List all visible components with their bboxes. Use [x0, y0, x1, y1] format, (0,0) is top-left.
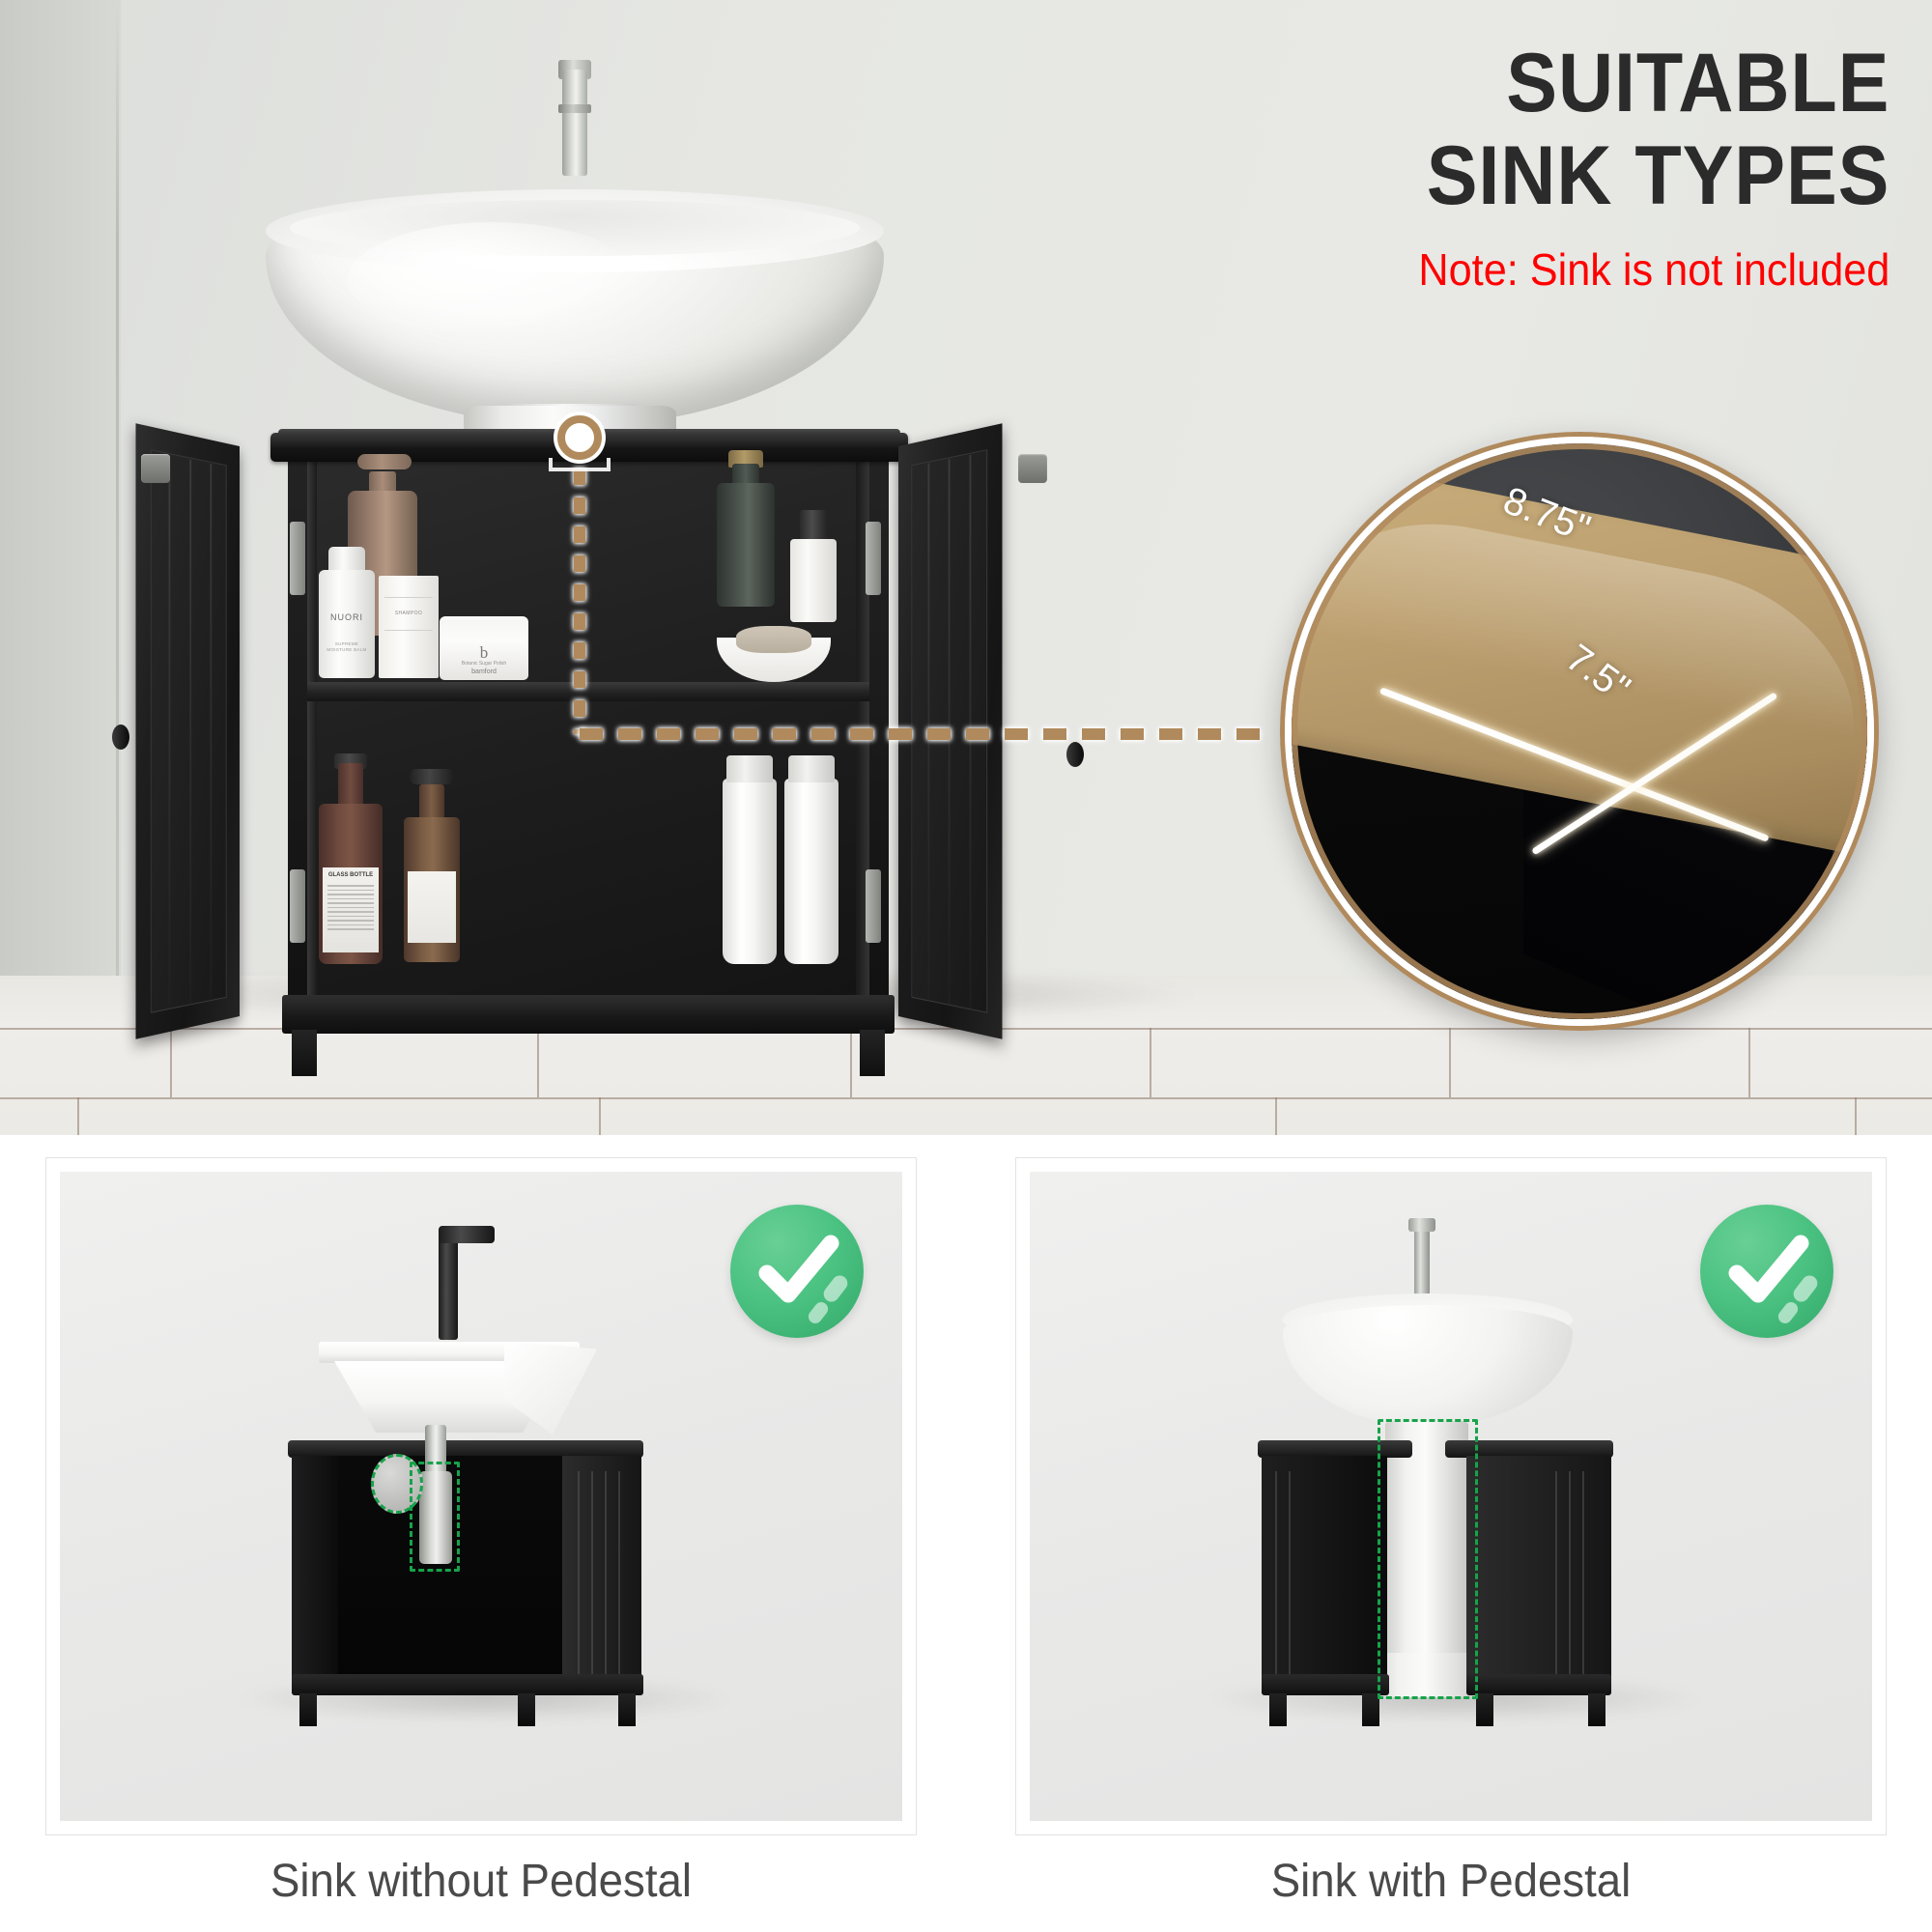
- cabinet-leg-left: [292, 1030, 317, 1076]
- panel-left-cabinet-side-left: [292, 1456, 338, 1693]
- lotion-pump-head: [357, 454, 412, 469]
- glass-bottle-label: GLASS BOTTLE: [323, 867, 379, 952]
- nuori-bottle: NUORI SUPREMEMOISTURE BALM: [319, 570, 375, 678]
- panel-left-leg-2: [518, 1693, 535, 1726]
- shampoo-box-text: SHAMPOO: [379, 611, 439, 616]
- panel-left-faucet-spout: [439, 1226, 495, 1243]
- panel-right-faucet-body: [1414, 1224, 1430, 1295]
- door-knob-right[interactable]: [1066, 742, 1084, 767]
- hinge-plate-right-bottom: [866, 869, 881, 943]
- door-left-panel: [151, 449, 227, 1013]
- cabinet-base-rail: [282, 995, 895, 1034]
- guide-line-vertical: [574, 440, 585, 734]
- check-icon: [1700, 1205, 1833, 1338]
- hinge-plate-right-top: [866, 522, 881, 595]
- guide-line-horizontal: [580, 728, 1275, 740]
- header-block: SUITABLE SINK TYPES Note: Sink is not in…: [1386, 37, 1889, 296]
- guide-bracket: [549, 458, 611, 471]
- nuori-brand-label: NUORI: [319, 612, 375, 622]
- hero-product-scene: SHAMPOO NUORI SUPREMEMOISTURE BALM b Bot…: [0, 0, 1932, 1135]
- hinge-plate-left-top: [290, 522, 305, 595]
- sink-highlight: [348, 222, 638, 338]
- guide-anchor-dot: [557, 415, 602, 460]
- caption-sink-without-pedestal: Sink without Pedestal: [69, 1855, 895, 1908]
- panel-left-cabinet-side-right: [562, 1456, 641, 1693]
- cabinet-leg-right: [860, 1030, 885, 1076]
- hinge-left-top: [141, 454, 170, 483]
- dimension-magnifier-callout: 8.75" 7.5": [1285, 437, 1874, 1026]
- infographic-root: SHAMPOO NUORI SUPREMEMOISTURE BALM b Bot…: [0, 0, 1932, 1932]
- door-knob-left[interactable]: [112, 724, 129, 750]
- panel-left-leg-3: [618, 1693, 636, 1726]
- amber-bottle-label: [408, 871, 456, 943]
- bamford-jar: b Botanic Sugar Polish bamford: [440, 620, 528, 680]
- dropper-cap: [800, 510, 827, 543]
- amber-bottle: [404, 817, 460, 962]
- white-tube-right: [784, 779, 838, 964]
- glass-bottle-neck: [338, 763, 363, 810]
- wall-left-shading: [0, 0, 121, 976]
- tube-cap-right: [788, 755, 835, 782]
- page-title-line1: SUITABLE: [1426, 37, 1889, 129]
- panel-right-leg-3: [1476, 1693, 1493, 1726]
- hinge-right-top: [1018, 454, 1047, 483]
- glass-bottle: GLASS BOTTLE: [319, 804, 383, 964]
- panel-right-base-left: [1262, 1674, 1389, 1695]
- panel-sink-without-pedestal: [46, 1158, 916, 1834]
- dark-green-bottle: [717, 483, 775, 607]
- panel-left-faucet-body: [439, 1232, 458, 1340]
- shampoo-box: SHAMPOO: [379, 576, 439, 678]
- panel-right-cabinet-side-right: [1466, 1456, 1611, 1693]
- panel-left-clearance-highlight: [410, 1462, 460, 1572]
- comparison-section: Sink without Pedestal Sink with Pedestal: [0, 1135, 1932, 1932]
- panel-right-cabinet-side-left: [1262, 1456, 1387, 1693]
- tube-cap-left: [726, 755, 773, 782]
- panel-sink-with-pedestal: [1016, 1158, 1886, 1834]
- panel-left-approved-badge: [730, 1205, 864, 1338]
- panel-right-leg-1: [1269, 1693, 1287, 1726]
- panel-right-leg-4: [1588, 1693, 1605, 1726]
- bamford-desc: Botanic Sugar Polish: [440, 661, 528, 667]
- faucet-spout: [562, 70, 587, 176]
- disclaimer-note: Note: Sink is not included: [1416, 243, 1889, 296]
- panel-right-faucet-head: [1408, 1218, 1435, 1232]
- panel-right-leg-2: [1362, 1693, 1379, 1726]
- panel-right-clearance-highlight: [1378, 1419, 1478, 1699]
- panel-right-base-right: [1466, 1674, 1611, 1695]
- nuori-sub-label: SUPREMEMOISTURE BALM: [319, 641, 375, 653]
- bamford-brand: bamford: [440, 668, 528, 675]
- panel-right-approved-badge: [1700, 1205, 1833, 1338]
- soap-bar: [736, 626, 811, 653]
- cabinet-door-left[interactable]: [136, 423, 240, 1039]
- cabinet-middle-shelf: [307, 682, 869, 701]
- amber-pump-head: [410, 769, 454, 784]
- panel-left-leg-1: [299, 1693, 317, 1726]
- page-title-line2: SINK TYPES: [1426, 129, 1889, 222]
- glass-bottle-label-title: GLASS BOTTLE: [323, 872, 379, 878]
- white-tube-left: [723, 779, 777, 964]
- bamford-logo: b: [440, 643, 528, 663]
- panel-right-sink-basin: [1283, 1305, 1573, 1427]
- serum-dropper-bottle: [790, 539, 837, 622]
- wall-corner-line: [116, 0, 119, 976]
- check-icon: [730, 1205, 864, 1338]
- hinge-plate-left-bottom: [290, 869, 305, 943]
- faucet-ring: [558, 104, 591, 113]
- panel-left-cabinet-base: [292, 1674, 643, 1695]
- caption-sink-with-pedestal: Sink with Pedestal: [1038, 1855, 1864, 1908]
